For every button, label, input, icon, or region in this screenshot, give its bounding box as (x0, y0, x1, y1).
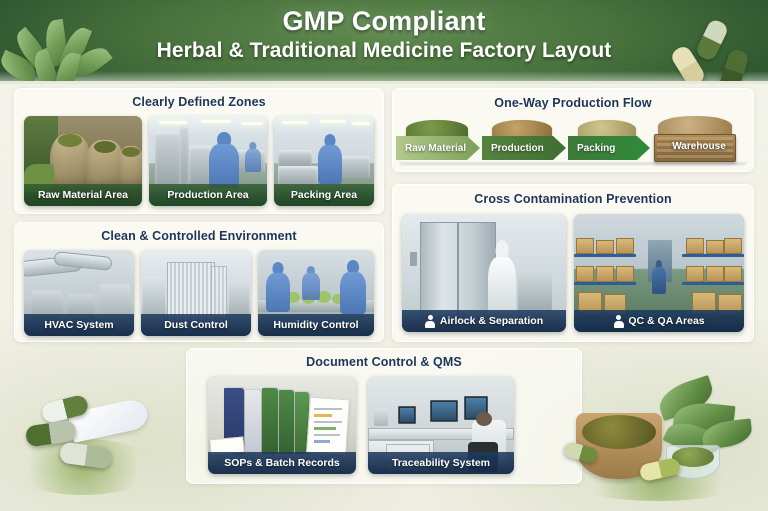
section-title-flow: One-Way Production Flow (392, 96, 754, 110)
card-label: Dust Control (164, 319, 228, 331)
card-airlock-separation[interactable]: Airlock & Separation (402, 214, 566, 332)
card-label: Production Area (167, 189, 248, 201)
flow-step-label: Raw Material (405, 143, 466, 154)
section-title-doc: Document Control & QMS (186, 355, 582, 369)
poster-header: GMP Compliant Herbal & Traditional Medic… (0, 0, 768, 84)
card-packing-area[interactable]: Packing Area (274, 116, 374, 206)
card-label: Raw Material Area (38, 189, 128, 201)
person-icon (425, 315, 436, 327)
card-caption: SOPs & Batch Records (208, 452, 356, 474)
infographic-poster: GMP Compliant Herbal & Traditional Medic… (0, 0, 768, 511)
card-caption: Dust Control (141, 314, 251, 336)
person-icon (613, 315, 624, 327)
flow-step-label: Warehouse (662, 141, 736, 152)
flow-step-label: Production (491, 143, 544, 154)
section-title-clean: Clean & Controlled Environment (14, 229, 384, 243)
card-label: Packing Area (291, 189, 357, 201)
card-raw-material-area[interactable]: Raw Material Area (24, 116, 142, 206)
card-label: Humidity Control (273, 319, 358, 331)
flow-step-raw-material[interactable]: Raw Material (396, 136, 480, 160)
flow-step-label: Packing (577, 143, 615, 154)
card-hvac-system[interactable]: HVAC System (24, 250, 134, 336)
title-main: GMP Compliant (0, 5, 768, 37)
card-caption: QC & QA Areas (574, 310, 744, 332)
production-flow-diagram: Raw Material Production Packing Warehous… (392, 112, 754, 170)
card-production-area[interactable]: Production Area (149, 116, 267, 206)
card-traceability-system[interactable]: Traceability System (368, 376, 514, 474)
title-sub: Herbal & Traditional Medicine Factory La… (0, 37, 768, 64)
section-title-cross: Cross Contamination Prevention (392, 192, 754, 206)
flow-step-packing[interactable]: Packing (568, 136, 650, 160)
card-caption: Raw Material Area (24, 184, 142, 206)
section-title-zones: Clearly Defined Zones (14, 95, 384, 109)
card-caption: Traceability System (368, 452, 514, 474)
capsules-powder-icon (8, 387, 178, 497)
card-caption: Production Area (149, 184, 267, 206)
card-caption: Humidity Control (258, 314, 374, 336)
page-title: GMP Compliant Herbal & Traditional Medic… (0, 5, 768, 64)
herb-bowl-icon (562, 373, 762, 501)
card-caption: Airlock & Separation (402, 310, 566, 332)
card-qc-qa-areas[interactable]: QC & QA Areas (574, 214, 744, 332)
card-label: Airlock & Separation (440, 315, 543, 327)
card-label: QC & QA Areas (628, 315, 704, 327)
card-humidity-control[interactable]: Humidity Control (258, 250, 374, 336)
card-label: SOPs & Batch Records (224, 457, 340, 469)
card-label: HVAC System (44, 319, 113, 331)
card-caption: HVAC System (24, 314, 134, 336)
card-dust-control[interactable]: Dust Control (141, 250, 251, 336)
card-caption: Packing Area (274, 184, 374, 206)
card-sops-batch-records[interactable]: SOPs & Batch Records (208, 376, 356, 474)
flow-step-production[interactable]: Production (482, 136, 566, 160)
card-label: Traceability System (392, 457, 490, 469)
